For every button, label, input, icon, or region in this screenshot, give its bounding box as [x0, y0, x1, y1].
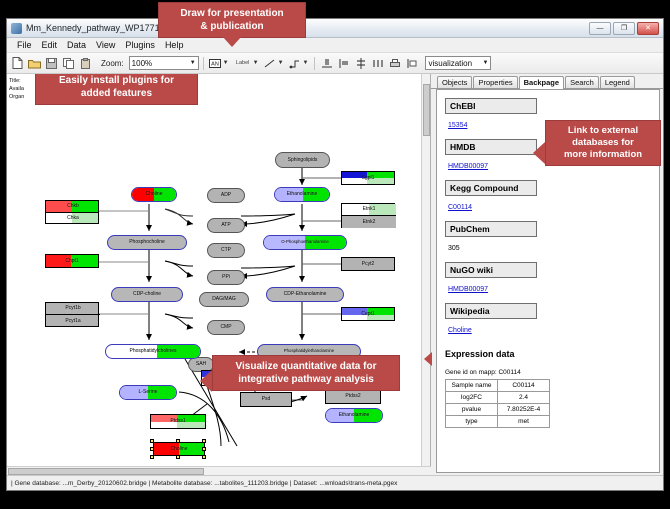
selection-handle[interactable]: [202, 455, 206, 459]
cell-label: pvalue: [446, 404, 498, 416]
gene-label-etnk2: Etnk2: [363, 220, 376, 225]
chevron-down-icon[interactable]: ▼: [303, 60, 309, 66]
toolbar-separator: [314, 57, 315, 70]
menu-item-edit[interactable]: Edit: [37, 40, 63, 50]
link-hmdb[interactable]: HMDB00097: [448, 163, 488, 170]
maximize-button[interactable]: ❐: [613, 22, 635, 35]
node-cmp[interactable]: CMP: [207, 320, 245, 335]
callout-links: Link to external databases for more info…: [545, 120, 661, 166]
print-icon[interactable]: [387, 56, 402, 71]
callout-visualize-line1: Visualize quantitative data for: [221, 360, 391, 373]
node-ethanolamine-top[interactable]: Ethanolamine: [274, 187, 330, 202]
toolbar-separator: [203, 57, 204, 70]
node-phosphocholine[interactable]: Phosphocholine: [107, 235, 187, 250]
close-button[interactable]: ✕: [637, 22, 659, 35]
scrollbar-thumb[interactable]: [8, 468, 204, 475]
title-bar: Mm_Kennedy_pathway_WP1771_45176.gpml — ❐…: [7, 19, 663, 38]
node-phosphatidylcholines[interactable]: Phosphatidylcholines: [105, 344, 201, 359]
table-row: log2FC 2.4: [446, 392, 550, 404]
node-cdp-ethanolamine[interactable]: CDP-Ethanolamine: [266, 287, 344, 302]
node-l-serine-left[interactable]: L-Serine: [119, 385, 177, 400]
gene-label-pcyt1b: Pcyt1b: [65, 306, 80, 311]
tab-objects[interactable]: Objects: [437, 76, 472, 88]
node-choline-top[interactable]: Choline: [131, 187, 177, 202]
selection-handle[interactable]: [176, 455, 180, 459]
save-icon[interactable]: [44, 56, 59, 71]
order-icon[interactable]: [404, 56, 419, 71]
callout-visualize-line2: integrative pathway analysis: [221, 373, 391, 386]
gene-box-pcyt1[interactable]: Pcyt1b Pcyt1a: [45, 302, 99, 327]
connector-icon[interactable]: [288, 56, 303, 71]
node-choline-bottom[interactable]: Choline: [153, 442, 205, 456]
selection-handle[interactable]: [150, 447, 154, 451]
gene-box-sgpl1[interactable]: Sgpl1: [341, 171, 395, 185]
zoom-label: Zoom:: [101, 59, 124, 68]
selection-handle[interactable]: [150, 455, 154, 459]
tab-backpage[interactable]: Backpage: [519, 76, 564, 89]
minimize-button[interactable]: —: [589, 22, 611, 35]
menu-item-file[interactable]: File: [12, 40, 37, 50]
pathway-canvas[interactable]: Title: Availa Organ: [7, 74, 431, 475]
visualization-combo[interactable]: visualization ▼: [425, 56, 491, 70]
gene-label-pcyt1a: Pcyt1a: [65, 319, 80, 324]
chevron-down-icon: ▼: [187, 60, 196, 66]
new-file-icon[interactable]: [10, 56, 25, 71]
menu-bar: File Edit Data View Plugins Help: [7, 38, 663, 53]
callout-links-line2: databases for: [554, 137, 652, 149]
section-header-chebi: ChEBI: [445, 98, 537, 114]
node-adp[interactable]: ADP: [207, 188, 245, 203]
selection-handle[interactable]: [202, 439, 206, 443]
pathway-diagram[interactable]: Sphingolipids ADP ATP CTP PPi DAG/MAG CM…: [7, 74, 431, 475]
link-nugo[interactable]: HMDB00097: [448, 286, 488, 293]
open-folder-icon[interactable]: [27, 56, 42, 71]
gene-label-chka: Chka: [67, 216, 79, 221]
menu-item-view[interactable]: View: [91, 40, 120, 50]
table-row: Sample name C00114: [446, 380, 550, 392]
gene-box-pcyt2[interactable]: Pcyt2: [341, 257, 395, 271]
zoom-value: 100%: [132, 59, 152, 68]
tab-search[interactable]: Search: [565, 76, 599, 88]
selection-handle[interactable]: [202, 447, 206, 451]
gene-box-cept1[interactable]: Cept1: [341, 307, 395, 321]
menu-item-plugins[interactable]: Plugins: [120, 40, 160, 50]
toolbar: Zoom: 100% ▼ AN ▼ Label ▼ ▼ ▼: [7, 53, 663, 74]
line-icon[interactable]: [263, 56, 278, 71]
menu-item-data[interactable]: Data: [62, 40, 91, 50]
gene-label-chkb: Chkb: [67, 204, 79, 209]
distribute-icon[interactable]: [370, 56, 385, 71]
side-panel-tabs: Objects Properties Backpage Search Legen…: [431, 74, 663, 89]
cell-label: Sample name: [446, 380, 498, 392]
link-kegg[interactable]: C00114: [448, 204, 472, 211]
selection-handle[interactable]: [176, 439, 180, 443]
status-text: | Gene database: ...m_Derby_20120602.bri…: [11, 480, 397, 487]
callout-links-line1: Link to external: [554, 125, 652, 137]
node-cdp-choline[interactable]: CDP-choline: [111, 287, 183, 302]
align-left-icon[interactable]: [336, 56, 351, 71]
gene-box-psd[interactable]: Psd: [240, 392, 292, 407]
callout-plugins-line1: Easily install plugins for: [44, 74, 189, 87]
section-header-kegg: Kegg Compound: [445, 180, 537, 196]
menu-item-help[interactable]: Help: [160, 40, 189, 50]
chevron-down-icon[interactable]: ▼: [278, 60, 284, 66]
visualization-value: visualization: [428, 59, 472, 68]
cell-label: type: [446, 416, 498, 428]
cell-value: 2.4: [498, 392, 550, 404]
zoom-combo[interactable]: 100% ▼: [129, 56, 199, 70]
gene-box-etnk[interactable]: Etnk1 Etnk2: [341, 203, 395, 228]
gene-id-line: Gene id on mapp: C00114: [445, 369, 651, 376]
callout-draw-line1: Draw for presentation: [167, 7, 297, 20]
pathvisio-window: Mm_Kennedy_pathway_WP1771_45176.gpml — ❐…: [6, 18, 664, 491]
callout-plugins-line2: added features: [44, 87, 189, 100]
chevron-down-icon: ▼: [480, 60, 489, 66]
gene-box-chk[interactable]: Chkb Chka: [45, 200, 99, 224]
section-header-nugo: NuGO wiki: [445, 262, 537, 278]
callout-links-line3: more information: [554, 149, 652, 161]
cell-value: C00114: [498, 380, 550, 392]
stack-icon[interactable]: [353, 56, 368, 71]
cell-value: met: [498, 416, 550, 428]
callout-draw-arrow: [222, 36, 242, 47]
paste-icon[interactable]: [78, 56, 93, 71]
node-o-phosphoethanolamine[interactable]: O-Phosphoethanolamine: [263, 235, 347, 250]
callout-links-secondary-arrow: [424, 352, 432, 366]
node-ppi[interactable]: PPi: [207, 270, 245, 285]
callout-visualize-arrow: [200, 370, 212, 392]
align-bottom-icon[interactable]: [319, 56, 334, 71]
selection-handle[interactable]: [150, 439, 154, 443]
expression-table: Sample name C00114 log2FC 2.4 pvalue 7.8…: [445, 379, 550, 428]
node-dagmag[interactable]: DAG/MAG: [199, 292, 249, 307]
gene-box-ptdss1[interactable]: Ptdss1: [150, 414, 206, 429]
callout-draw-line2: & publication: [167, 20, 297, 33]
link-wikipedia[interactable]: Choline: [448, 327, 472, 334]
canvas-vertical-scrollbar[interactable]: [421, 74, 430, 475]
gene-box-ptdss2[interactable]: Ptdss2: [325, 389, 381, 404]
section-header-hmdb: HMDB: [445, 139, 537, 155]
chevron-down-icon[interactable]: ▼: [223, 60, 229, 66]
gene-box-chpt1[interactable]: Chpt1: [45, 254, 99, 268]
callout-visualize: Visualize quantitative data for integrat…: [212, 355, 400, 391]
pathvisio-icon: [11, 23, 22, 34]
callout-plugins: Easily install plugins for added feature…: [35, 74, 198, 105]
gene-label-etnk1: Etnk1: [363, 207, 376, 212]
table-row: type met: [446, 416, 550, 428]
screenshot-root: Mm_Kennedy_pathway_WP1771_45176.gpml — ❐…: [0, 0, 670, 509]
node-atp[interactable]: ATP: [207, 218, 245, 233]
callout-draw: Draw for presentation & publication: [158, 2, 306, 38]
table-row: pvalue 7.80252E-4: [446, 404, 550, 416]
link-chebi[interactable]: 15354: [448, 122, 467, 129]
status-bar: | Gene database: ...m_Derby_20120602.bri…: [7, 475, 663, 490]
label-icon[interactable]: Label: [233, 56, 253, 71]
copy-icon[interactable]: [61, 56, 76, 71]
datanode-icon[interactable]: AN: [208, 56, 223, 71]
chevron-down-icon[interactable]: ▼: [253, 60, 259, 66]
cell-value: 7.80252E-4: [498, 404, 550, 416]
value-pubchem: 305: [448, 245, 460, 252]
cell-label: log2FC: [446, 392, 498, 404]
tab-legend[interactable]: Legend: [600, 76, 635, 88]
node-sphingolipids[interactable]: Sphingolipids: [275, 152, 330, 168]
scrollbar-thumb[interactable]: [423, 84, 430, 136]
tab-properties[interactable]: Properties: [473, 76, 517, 88]
node-ethanolamine-right[interactable]: Ethanolamine: [325, 408, 383, 423]
section-header-pubchem: PubChem: [445, 221, 537, 237]
expression-data-title: Expression data: [445, 349, 651, 359]
svg-text:AN: AN: [211, 61, 219, 67]
canvas-horizontal-scrollbar[interactable]: [7, 466, 431, 475]
callout-links-arrow: [533, 142, 545, 164]
section-header-wikipedia: Wikipedia: [445, 303, 537, 319]
window-controls: — ❐ ✕: [589, 22, 659, 35]
node-ctp[interactable]: CTP: [207, 243, 245, 258]
